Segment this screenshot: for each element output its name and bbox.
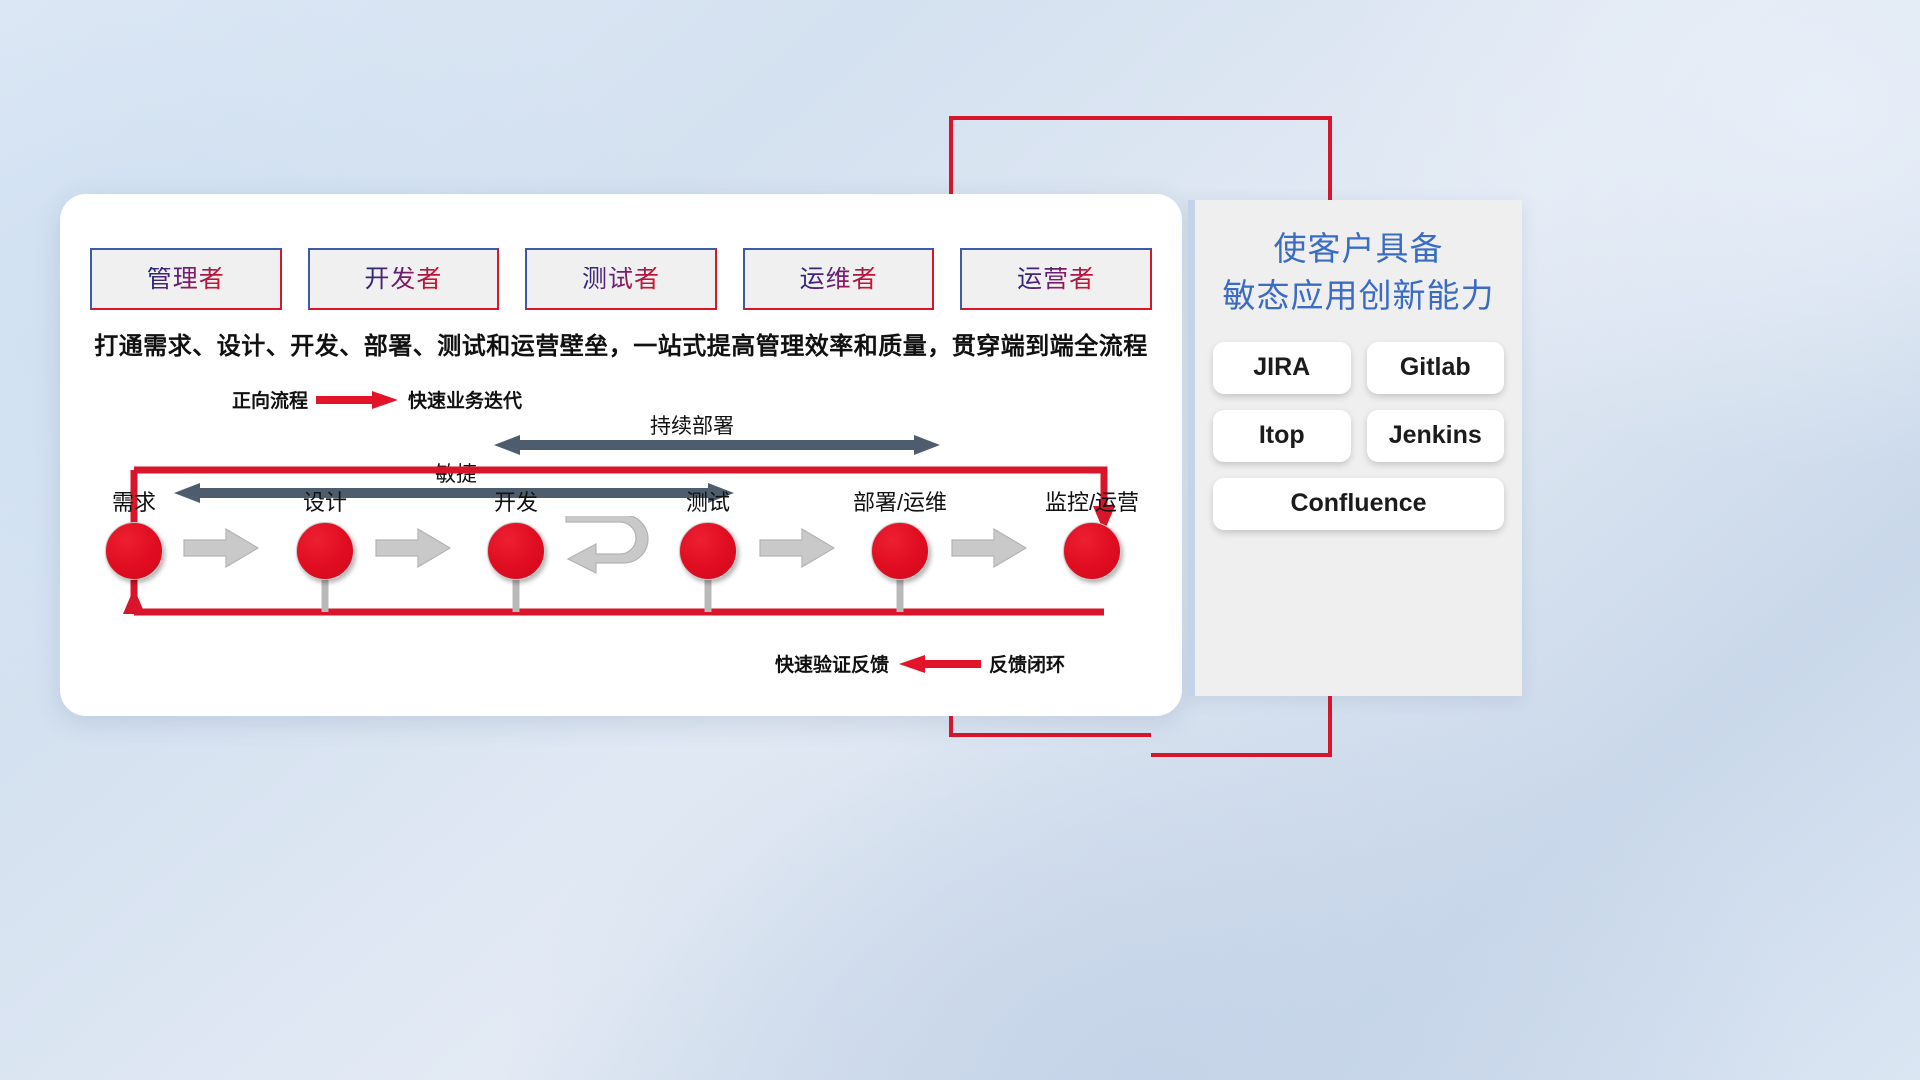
stage-deploy-ops[interactable]: 部署/运维 [840,492,960,580]
stage-development[interactable]: 开发 [456,492,576,580]
tool-chip-gitlab[interactable]: Gitlab [1367,342,1505,394]
chevron-arrow-1-icon [182,526,260,570]
diagram-canvas: 管理者 开发者 测试者 运维者 运营者 打通需求、设计、开发、部署、测试和运营壁… [0,0,1920,1080]
stage-testing[interactable]: 测试 [648,492,768,580]
stage-label: 需求 [74,492,194,514]
outcome-panel: 使客户具备 敏态应用创新能力 JIRA Gitlab Itop Jenkins … [1188,200,1522,696]
stage-requirements[interactable]: 需求 [74,492,194,580]
main-diagram-card: 管理者 开发者 测试者 运维者 运营者 打通需求、设计、开发、部署、测试和运营壁… [60,194,1182,716]
stage-dot [679,522,737,580]
stage-dot [871,522,929,580]
pipeline-red-feedback-loop [60,194,1182,716]
tool-chip-confluence[interactable]: Confluence [1213,478,1504,530]
tool-chip-itop[interactable]: Itop [1213,410,1351,462]
chevron-arrow-4-icon [950,526,1028,570]
stage-dot [1063,522,1121,580]
stage-label: 设计 [265,492,385,514]
stage-dot [105,522,163,580]
panel-title-line-2: 敏态应用创新能力 [1195,273,1522,320]
stage-label: 开发 [456,492,576,514]
stage-monitor-operations[interactable]: 监控/运营 [1032,492,1152,580]
stage-design[interactable]: 设计 [265,492,385,580]
feedback-right-label: 反馈闭环 [989,650,1065,677]
stage-dot [296,522,354,580]
feedback-loop-legend: 快速验证反馈 反馈闭环 [775,650,1065,677]
red-arrow-left-icon [897,654,981,674]
stage-label: 监控/运营 [1032,492,1152,514]
tool-chip-list: JIRA Gitlab Itop Jenkins Confluence [1195,342,1522,530]
chevron-arrow-2-icon [374,526,452,570]
panel-title-line-1: 使客户具备 [1195,226,1522,273]
chevron-arrow-3-icon [758,526,836,570]
panel-title: 使客户具备 敏态应用创新能力 [1195,200,1522,320]
tool-chip-jira[interactable]: JIRA [1213,342,1351,394]
stage-label: 测试 [648,492,768,514]
stage-label: 部署/运维 [840,492,960,514]
tool-chip-jenkins[interactable]: Jenkins [1367,410,1505,462]
feedback-left-label: 快速验证反馈 [775,650,889,677]
iteration-loop-arrow-icon [562,516,660,574]
stage-dot [487,522,545,580]
